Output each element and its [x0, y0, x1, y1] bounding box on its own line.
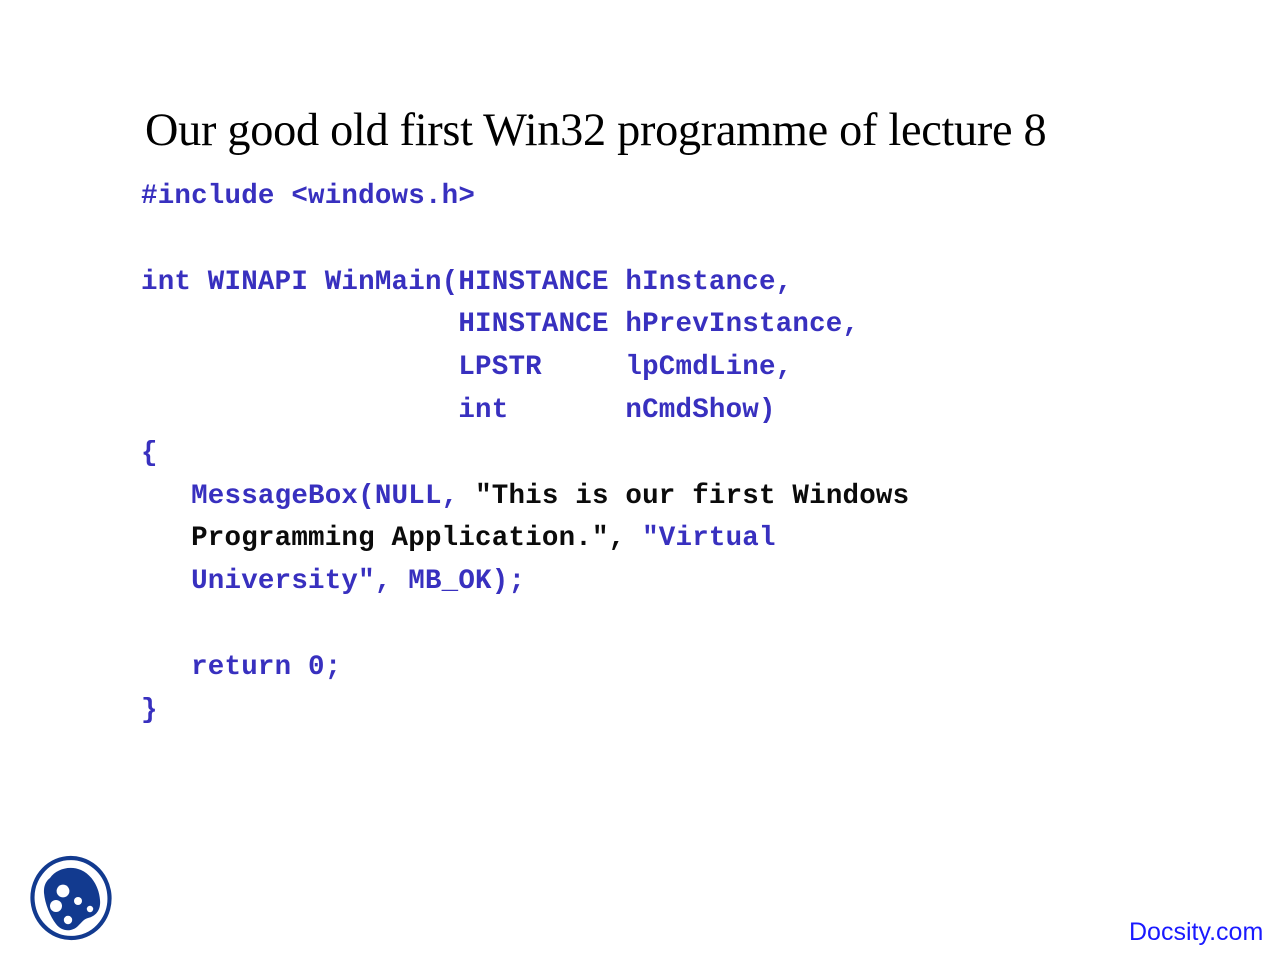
code-line: [141, 219, 1201, 262]
code-token: MessageBox(NULL,: [141, 481, 475, 512]
code-line: MessageBox(NULL, "This is our first Wind…: [141, 476, 1201, 519]
code-token: HINSTANCE hPrevInstance,: [141, 309, 859, 340]
code-token: #include <windows.h>: [141, 181, 475, 212]
code-token: University", MB_OK);: [141, 566, 525, 597]
code-line: int nCmdShow): [141, 390, 1201, 433]
docsity-logo: [26, 850, 118, 946]
page-title: Our good old first Win32 programme of le…: [145, 103, 1140, 157]
code-line: #include <windows.h>: [141, 176, 1201, 219]
slide-canvas: Our good old first Win32 programme of le…: [0, 0, 1280, 960]
code-token: "This is our first Windows: [475, 481, 909, 512]
code-line: int WINAPI WinMain(HINSTANCE hInstance,: [141, 262, 1201, 305]
docsity-logo-icon: [26, 850, 118, 946]
docsity-brand-text: Docsity.com: [1129, 918, 1263, 947]
code-token: return 0;: [141, 652, 341, 683]
code-line: Programming Application.", "Virtual: [141, 518, 1201, 561]
code-line: University", MB_OK);: [141, 561, 1201, 604]
code-block: #include <windows.h> int WINAPI WinMain(…: [141, 176, 1201, 732]
code-token: }: [141, 695, 158, 726]
code-token: int WINAPI WinMain(HINSTANCE hInstance,: [141, 267, 792, 298]
code-token: LPSTR lpCmdLine,: [141, 352, 792, 383]
code-token: Programming Application.",: [141, 523, 642, 554]
code-line: }: [141, 690, 1201, 733]
code-line: LPSTR lpCmdLine,: [141, 347, 1201, 390]
code-line: return 0;: [141, 647, 1201, 690]
code-line: {: [141, 433, 1201, 476]
code-line: [141, 604, 1201, 647]
code-token: int nCmdShow): [141, 395, 776, 426]
code-token: "Virtual: [642, 523, 776, 554]
code-line: HINSTANCE hPrevInstance,: [141, 304, 1201, 347]
code-token: {: [141, 438, 158, 469]
